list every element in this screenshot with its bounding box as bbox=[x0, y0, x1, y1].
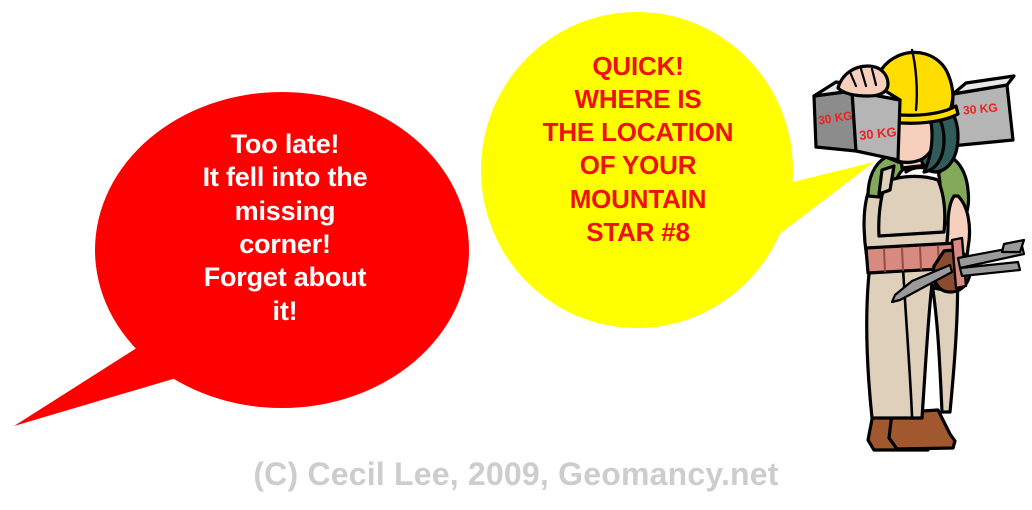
cartoon-canvas: Too late! It fell into the missing corne… bbox=[0, 0, 1032, 510]
left-hand bbox=[838, 66, 888, 96]
copyright-caption: (C) Cecil Lee, 2009, Geomancy.net bbox=[0, 456, 1032, 493]
red-bubble-text: Too late! It fell into the missing corne… bbox=[140, 128, 430, 328]
yellow-bubble-text: QUICK! WHERE IS THE LOCATION OF YOUR MOU… bbox=[497, 50, 779, 249]
